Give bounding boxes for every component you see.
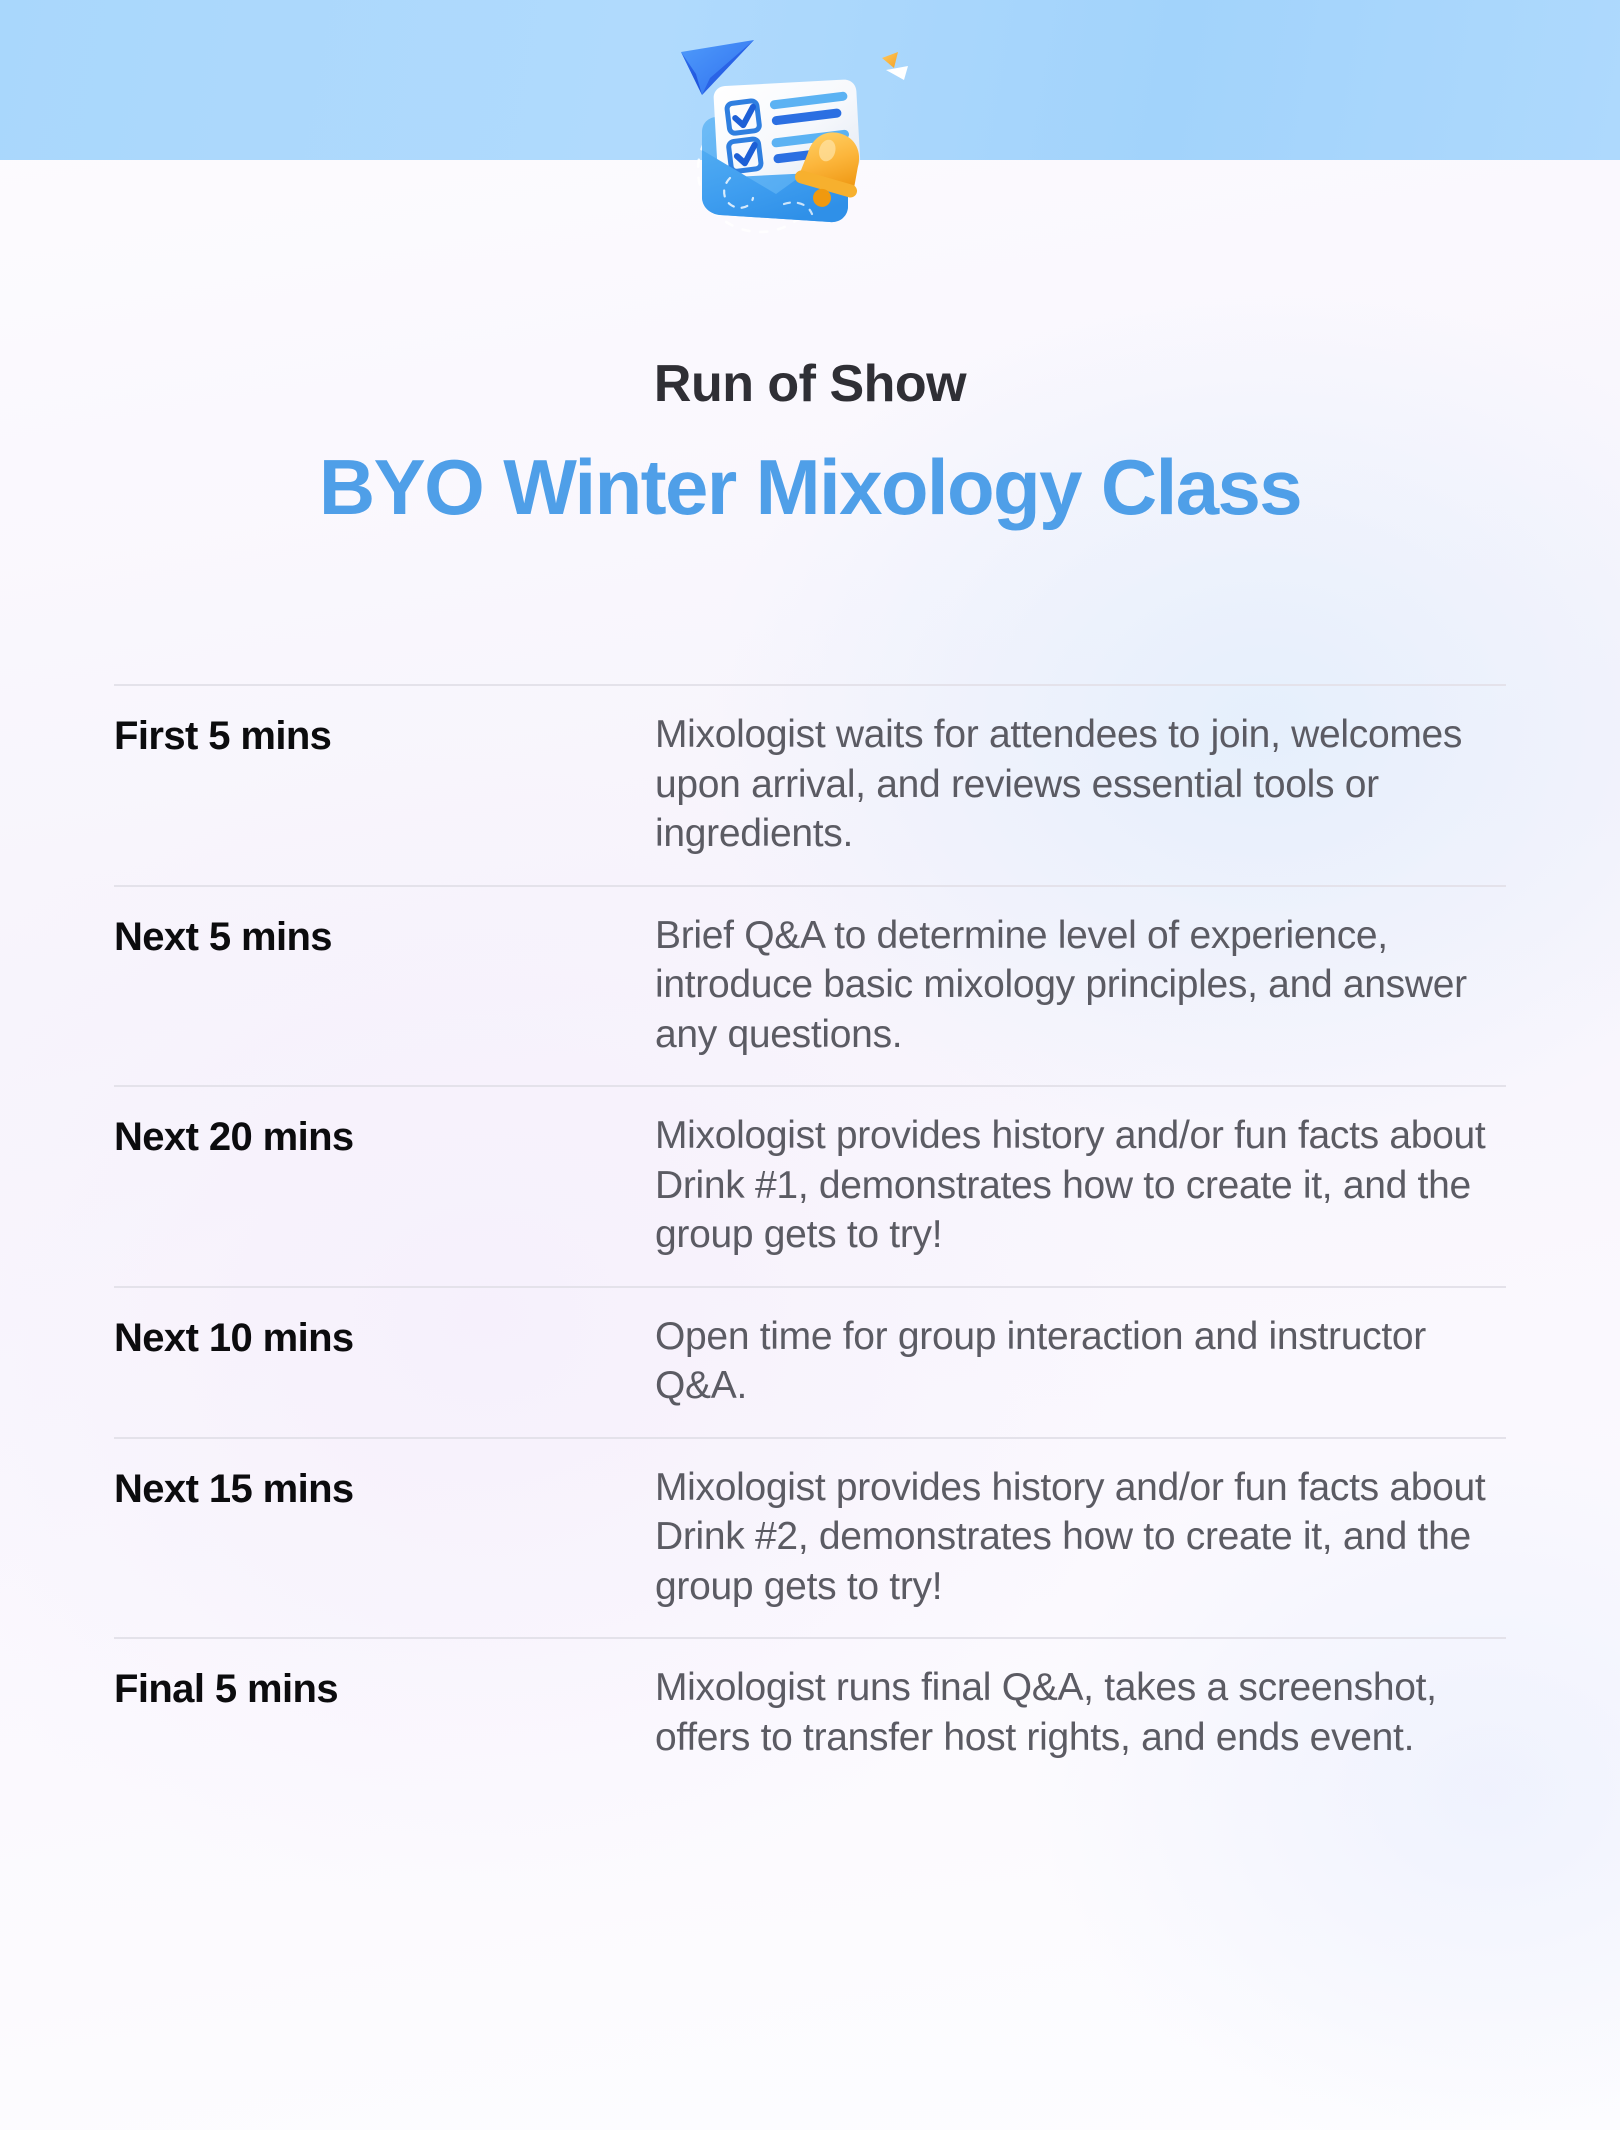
schedule-time-label: Next 20 mins bbox=[114, 1111, 655, 1163]
schedule-time-label: Next 5 mins bbox=[114, 911, 655, 963]
schedule-time-label: Next 15 mins bbox=[114, 1463, 655, 1515]
run-of-show-schedule: First 5 mins Mixologist waits for attend… bbox=[114, 684, 1506, 1788]
table-row: Final 5 mins Mixologist runs final Q&A, … bbox=[114, 1637, 1506, 1788]
table-row: Next 10 mins Open time for group interac… bbox=[114, 1286, 1506, 1437]
schedule-description: Mixologist runs final Q&A, takes a scree… bbox=[655, 1663, 1506, 1762]
schedule-description: Open time for group interaction and inst… bbox=[655, 1312, 1506, 1411]
schedule-time-label: Final 5 mins bbox=[114, 1663, 655, 1715]
schedule-description: Mixologist waits for attendees to join, … bbox=[655, 710, 1506, 859]
schedule-description: Mixologist provides history and/or fun f… bbox=[655, 1111, 1506, 1260]
page-eyebrow: Run of Show bbox=[0, 358, 1620, 410]
table-row: First 5 mins Mixologist waits for attend… bbox=[114, 684, 1506, 885]
schedule-time-label: Next 10 mins bbox=[114, 1312, 655, 1364]
schedule-description: Brief Q&A to determine level of experien… bbox=[655, 911, 1506, 1060]
table-row: Next 15 mins Mixologist provides history… bbox=[114, 1437, 1506, 1638]
schedule-description: Mixologist provides history and/or fun f… bbox=[655, 1463, 1506, 1612]
schedule-time-label: First 5 mins bbox=[114, 710, 655, 762]
page-title: BYO Winter Mixology Class bbox=[0, 448, 1620, 526]
envelope-checklist-illustration bbox=[636, 18, 916, 266]
table-row: Next 5 mins Brief Q&A to determine level… bbox=[114, 885, 1506, 1086]
table-row: Next 20 mins Mixologist provides history… bbox=[114, 1085, 1506, 1286]
